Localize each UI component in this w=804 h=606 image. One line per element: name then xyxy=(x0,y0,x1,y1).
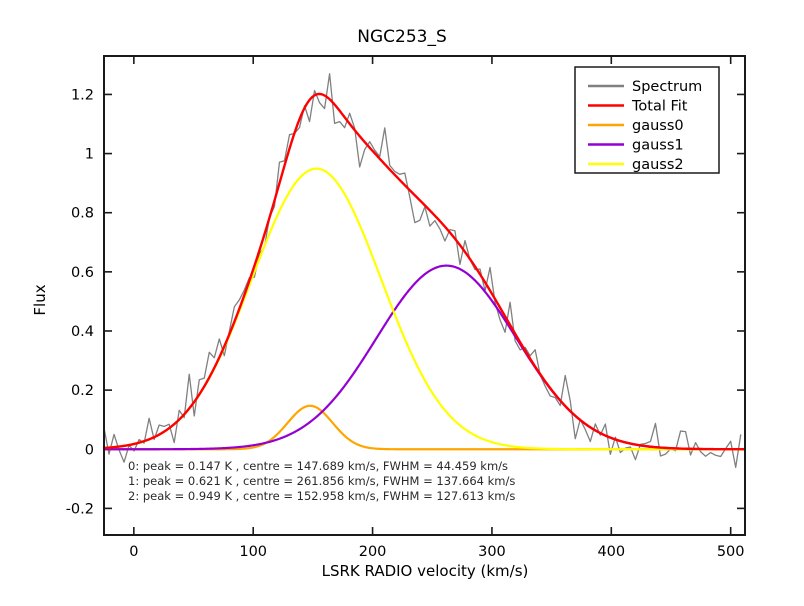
y-tick-label: 1.2 xyxy=(71,87,94,103)
gaussian-component-2-curve xyxy=(104,169,744,450)
fit-parameters-annotation: 0: peak = 0.147 K , centre = 147.689 km/… xyxy=(128,459,515,503)
spectrum-fit-figure: NGC253_S 0100200300400500 -0.200.20.40.6… xyxy=(0,0,804,606)
y-tick-labels: -0.200.20.40.60.811.2 xyxy=(66,87,94,517)
y-tick-label: 0 xyxy=(85,442,94,458)
x-tick-labels: 0100200300400500 xyxy=(129,544,744,560)
y-tick-label: 0.2 xyxy=(71,383,94,399)
page-title: NGC253_S xyxy=(357,27,447,47)
x-tick-label: 300 xyxy=(478,544,506,560)
y-tick-label: 0.8 xyxy=(71,206,94,222)
x-tick-label: 200 xyxy=(359,544,387,560)
y-tick-label: 1 xyxy=(85,147,94,163)
gaussian-component-1-curve xyxy=(104,266,744,450)
annotation-line-2: 2: peak = 0.949 K , centre = 152.958 km/… xyxy=(128,489,515,503)
y-tick-label: 0.4 xyxy=(71,324,94,340)
legend-label-total-fit: Total Fit xyxy=(631,99,688,115)
x-axis-label: LSRK RADIO velocity (km/s) xyxy=(322,562,529,580)
legend: SpectrumTotal Fitgauss0gauss1gauss2 xyxy=(575,67,719,173)
y-tick-label: -0.2 xyxy=(66,501,94,517)
legend-label-gauss1: gauss1 xyxy=(632,138,684,154)
x-tick-label: 100 xyxy=(239,544,267,560)
plot-svg: NGC253_S 0100200300400500 -0.200.20.40.6… xyxy=(0,0,804,606)
legend-label-spectrum: Spectrum xyxy=(632,79,702,95)
x-tick-label: 500 xyxy=(717,544,745,560)
y-tick-label: 0.6 xyxy=(71,265,94,281)
y-axis-label: Flux xyxy=(31,284,49,315)
annotation-line-1: 1: peak = 0.621 K , centre = 261.856 km/… xyxy=(128,474,515,488)
annotation-line-0: 0: peak = 0.147 K , centre = 147.689 km/… xyxy=(128,459,508,473)
x-tick-label: 400 xyxy=(597,544,625,560)
legend-label-gauss0: gauss0 xyxy=(632,118,684,134)
x-tick-label: 0 xyxy=(129,544,138,560)
legend-label-gauss2: gauss2 xyxy=(632,157,684,173)
